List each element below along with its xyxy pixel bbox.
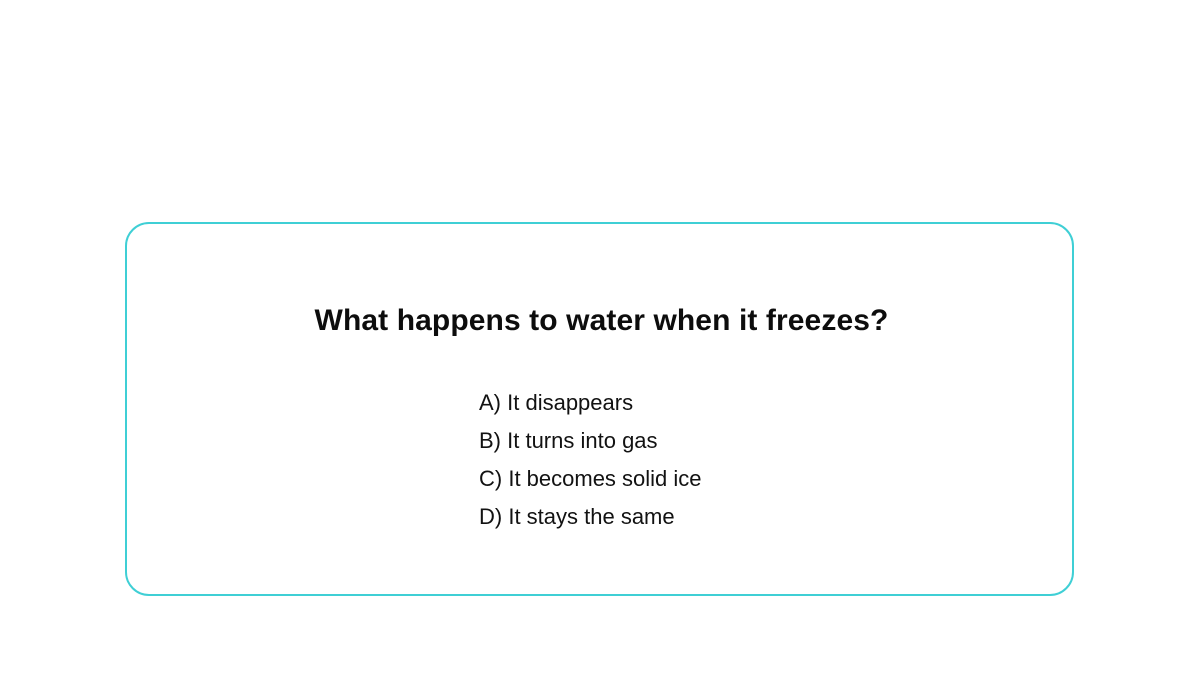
- answer-option-c[interactable]: C) It becomes solid ice: [479, 460, 999, 498]
- answer-option-a-label: A): [479, 390, 507, 415]
- answer-option-c-text: It becomes solid ice: [508, 466, 701, 491]
- answer-option-b-text: It turns into gas: [507, 428, 657, 453]
- answer-option-c-label: C): [479, 466, 508, 491]
- answer-option-d[interactable]: D) It stays the same: [479, 498, 999, 536]
- answer-option-b[interactable]: B) It turns into gas: [479, 422, 999, 460]
- quiz-card: What happens to water when it freezes? A…: [125, 222, 1074, 596]
- answer-option-d-text: It stays the same: [508, 504, 674, 529]
- slide-canvas: What happens to water when it freezes? A…: [0, 0, 1200, 675]
- answer-option-d-label: D): [479, 504, 508, 529]
- answer-option-b-label: B): [479, 428, 507, 453]
- question-text: What happens to water when it freezes?: [127, 304, 1076, 337]
- answer-options-list: A) It disappears B) It turns into gas C)…: [479, 384, 999, 536]
- answer-option-a-text: It disappears: [507, 390, 633, 415]
- answer-option-a[interactable]: A) It disappears: [479, 384, 999, 422]
